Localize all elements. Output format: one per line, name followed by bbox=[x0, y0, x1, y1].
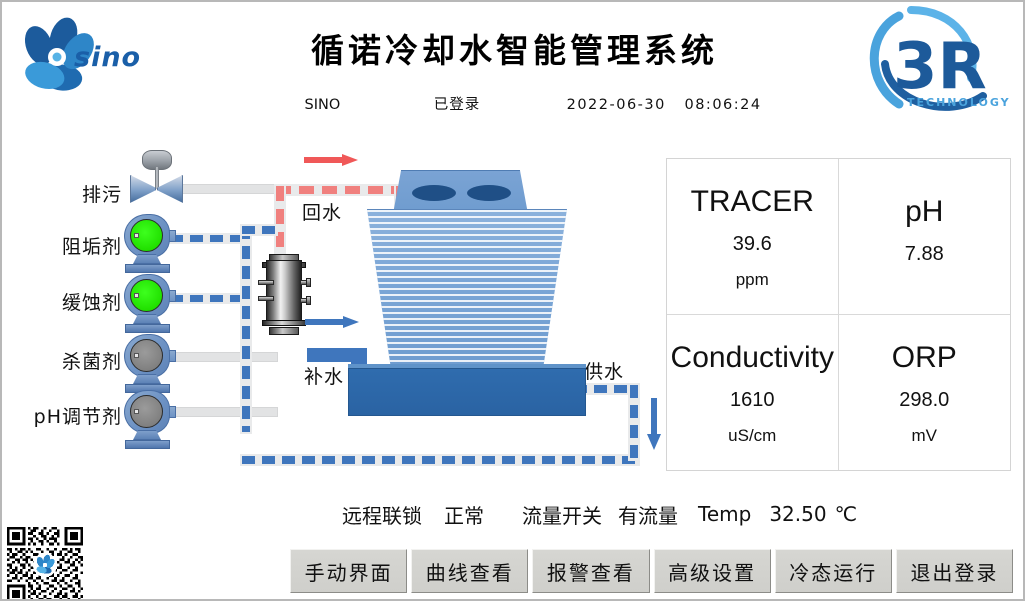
chem-label-antiscalant: 阻垢剂 bbox=[4, 232, 122, 259]
pump-antiscalant[interactable] bbox=[120, 214, 182, 276]
pump-base-icon bbox=[125, 324, 170, 333]
qr-code[interactable] bbox=[6, 527, 84, 601]
measurement-value: 298.0 bbox=[899, 389, 949, 412]
hx-bottom-cap-icon bbox=[269, 327, 299, 335]
manual-screen-button[interactable]: 手动界面 bbox=[290, 549, 407, 593]
hx-right-cap-upper-icon bbox=[306, 278, 311, 287]
chem-label-biocide: 杀菌剂 bbox=[4, 347, 122, 374]
interlock-label: 远程联锁 bbox=[342, 500, 422, 529]
measurement-value: 7.88 bbox=[905, 243, 944, 266]
valve-stem-icon bbox=[155, 167, 159, 189]
temperature-label: Temp bbox=[698, 502, 751, 526]
supply-pipe-left bbox=[242, 226, 250, 432]
flowswitch-value: 有流量 bbox=[618, 500, 678, 529]
supply-flow-arrow bbox=[647, 398, 661, 450]
supply-pipe-bottom bbox=[242, 456, 638, 464]
interlock-value: 正常 bbox=[444, 500, 484, 529]
logout-button[interactable]: 退出登录 bbox=[896, 549, 1013, 593]
pump-base-icon bbox=[125, 440, 170, 449]
heat-exchanger[interactable] bbox=[258, 250, 312, 336]
cold-run-button[interactable]: 冷态运行 bbox=[775, 549, 892, 593]
flowswitch-label: 流量开关 bbox=[522, 500, 602, 529]
advanced-settings-button[interactable]: 高级设置 bbox=[654, 549, 771, 593]
hx-left-nozzle-upper-icon bbox=[258, 280, 274, 285]
pump-base-icon bbox=[125, 264, 170, 273]
supply-pipe-right bbox=[630, 385, 638, 459]
hx-bottom-flange-icon bbox=[262, 320, 306, 326]
chem-label-ph-adjuster: pH调节剂 bbox=[4, 402, 122, 429]
measurement-tracer[interactable]: TRACER 39.6 ppm bbox=[667, 159, 839, 315]
fan-blade-left-icon bbox=[412, 185, 456, 201]
plant-status-row: 远程联锁 正常 流量开关 有流量 Temp 32.50 ℃ bbox=[342, 498, 1012, 530]
pump-shaft-icon bbox=[134, 409, 139, 414]
return-pipe-top bbox=[276, 186, 404, 194]
temperature-value: 32.50 bbox=[769, 502, 826, 526]
bottom-button-bar: 手动界面 曲线查看 报警查看 高级设置 冷态运行 退出登录 bbox=[290, 549, 1013, 593]
measurement-unit: mV bbox=[912, 426, 938, 446]
fan-blade-right-icon bbox=[467, 185, 511, 201]
measurement-label: pH bbox=[905, 195, 943, 229]
measurement-label: Conductivity bbox=[671, 341, 834, 375]
chem-label-corrosion-inhibitor: 缓蚀剂 bbox=[4, 288, 122, 315]
measurement-unit: ppm bbox=[736, 270, 769, 290]
current-date: 2022-06-30 bbox=[567, 97, 666, 113]
makeup-flow-arrow bbox=[305, 316, 359, 328]
hmi-screen: sino 循诺冷却水智能管理系统 SINO 已登录 2022-06-30 08:… bbox=[0, 0, 1025, 601]
measurement-unit: uS/cm bbox=[728, 426, 776, 446]
temperature-unit: ℃ bbox=[835, 502, 857, 526]
supply-pipe-topstub bbox=[242, 226, 276, 234]
cooling-tower-basin bbox=[348, 368, 586, 416]
hx-left-nozzle-lower-icon bbox=[258, 296, 274, 301]
pump-shaft-icon bbox=[134, 233, 139, 238]
hx-shell-icon bbox=[266, 260, 302, 326]
measurement-panel: TRACER 39.6 ppm pH 7.88 Conductivity 161… bbox=[666, 158, 1011, 471]
chem-label-blowdown: 排污 bbox=[4, 180, 122, 207]
measurement-ph[interactable]: pH 7.88 bbox=[839, 159, 1011, 315]
alarm-view-button[interactable]: 报警查看 bbox=[532, 549, 649, 593]
valve-left-cone-icon bbox=[130, 175, 156, 203]
label-return-water: 回水 bbox=[302, 198, 342, 225]
pump-corrosion-inhibitor[interactable] bbox=[120, 274, 182, 336]
measurement-conductivity[interactable]: Conductivity 1610 uS/cm bbox=[667, 315, 839, 471]
trend-view-button[interactable]: 曲线查看 bbox=[411, 549, 528, 593]
user-name: SINO bbox=[267, 97, 377, 113]
measurement-label: ORP bbox=[892, 341, 957, 375]
pipe-ph-adjuster bbox=[170, 407, 278, 417]
cooling-tower-body bbox=[367, 209, 567, 369]
measurement-value: 39.6 bbox=[733, 233, 772, 256]
current-time: 08:06:24 bbox=[684, 97, 761, 113]
measurement-orp[interactable]: ORP 298.0 mV bbox=[839, 315, 1011, 471]
pipe-biocide bbox=[170, 352, 278, 362]
pump-biocide[interactable] bbox=[120, 334, 182, 396]
return-flow-arrow bbox=[304, 154, 358, 166]
pump-shaft-icon bbox=[134, 353, 139, 358]
valve-right-cone-icon bbox=[157, 175, 183, 203]
label-makeup-water: 补水 bbox=[304, 362, 344, 389]
login-status: 已登录 bbox=[382, 93, 532, 114]
pump-ph-adjuster[interactable] bbox=[120, 390, 182, 452]
pump-shaft-icon bbox=[134, 293, 139, 298]
hx-right-cap-lower-icon bbox=[306, 296, 311, 305]
measurement-label: TRACER bbox=[691, 185, 814, 219]
cooling-tower-fan-deck bbox=[393, 170, 528, 214]
svg-text:3R: 3R bbox=[893, 30, 987, 104]
blowdown-valve[interactable] bbox=[124, 150, 190, 212]
label-supply-water: 供水 bbox=[584, 357, 624, 384]
3r-technology-logo: 3R TECHNOLOGY bbox=[855, 4, 1015, 122]
technology-wordmark: TECHNOLOGY bbox=[907, 96, 1011, 109]
measurement-value: 1610 bbox=[730, 389, 775, 412]
